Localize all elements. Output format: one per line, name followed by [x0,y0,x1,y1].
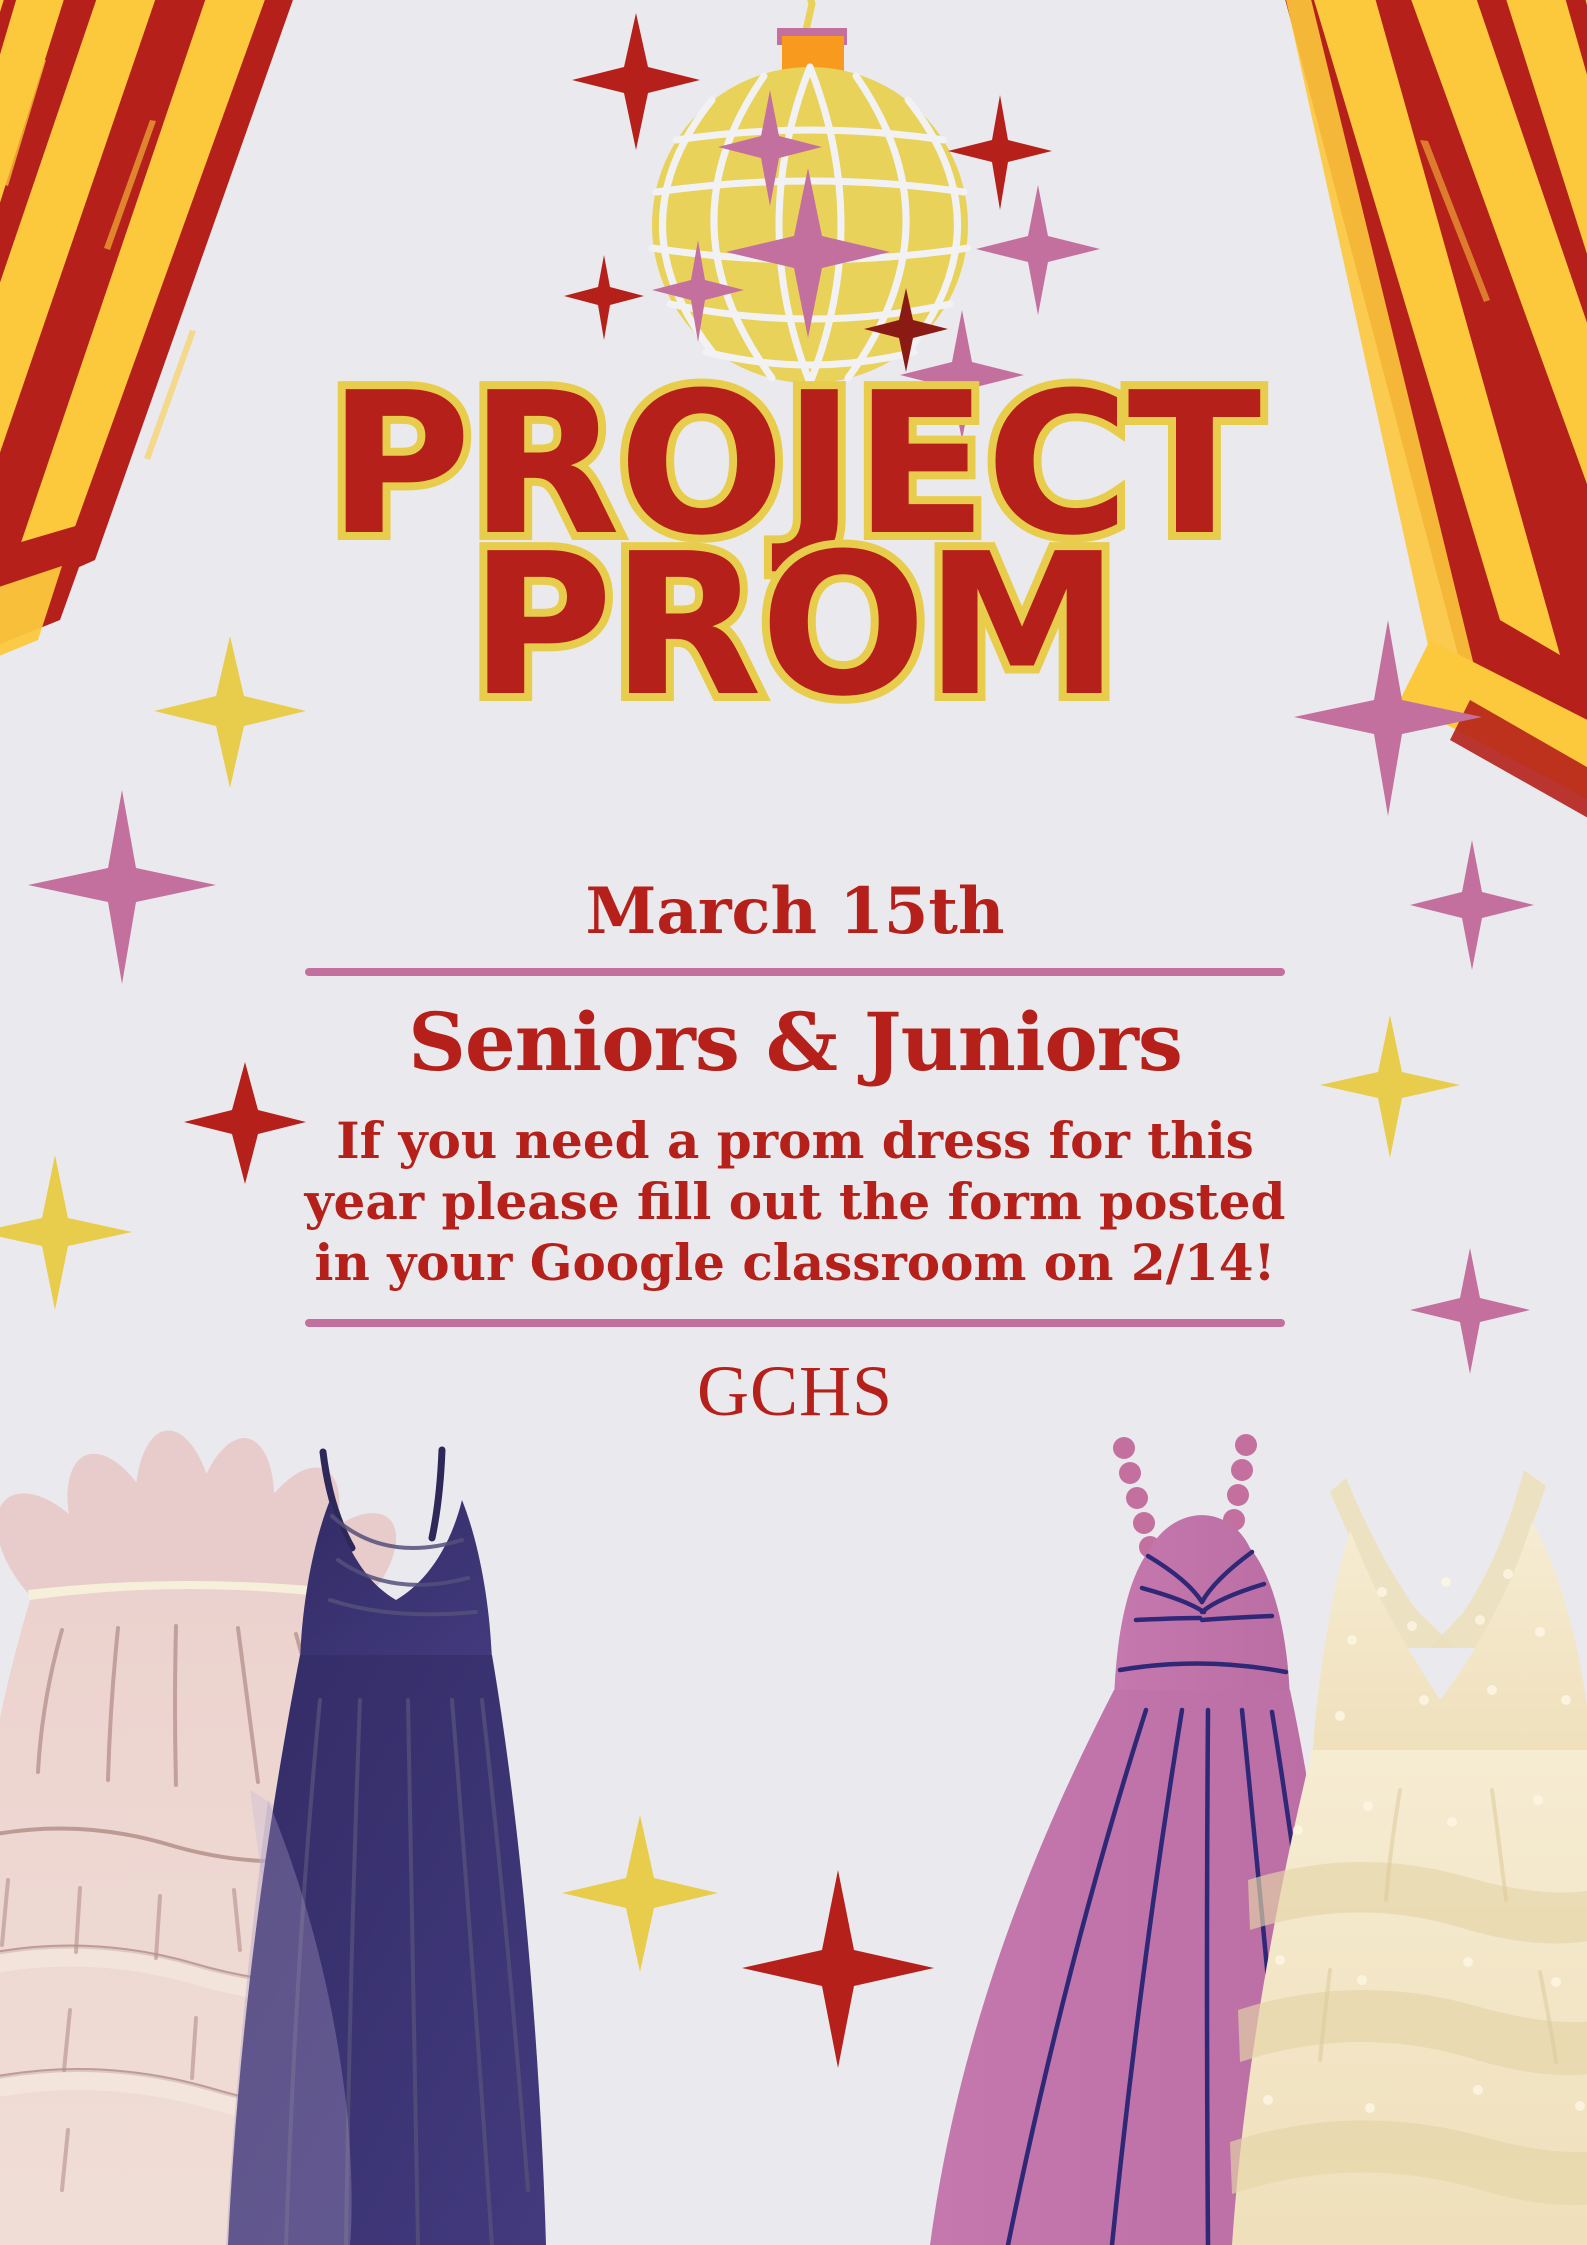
audience-text: Seniors & Juniors [408,1002,1182,1082]
disco-ball-icon [652,0,968,383]
instructions-text: If you need a prom dress for this year p… [255,1110,1335,1293]
prom-poster: PROJECT PROM March 15th Seniors & Junior… [0,0,1587,2245]
divider-top [305,968,1285,976]
striped-curtain-left-icon [0,0,300,672]
event-date: March 15th [255,880,1335,944]
audience-row: Seniors & Juniors [255,1002,1335,1082]
poster-details: March 15th Seniors & Juniors If you need… [255,880,1335,1427]
school-name: GCHS [255,1355,1335,1427]
divider-bottom [305,1319,1285,1327]
